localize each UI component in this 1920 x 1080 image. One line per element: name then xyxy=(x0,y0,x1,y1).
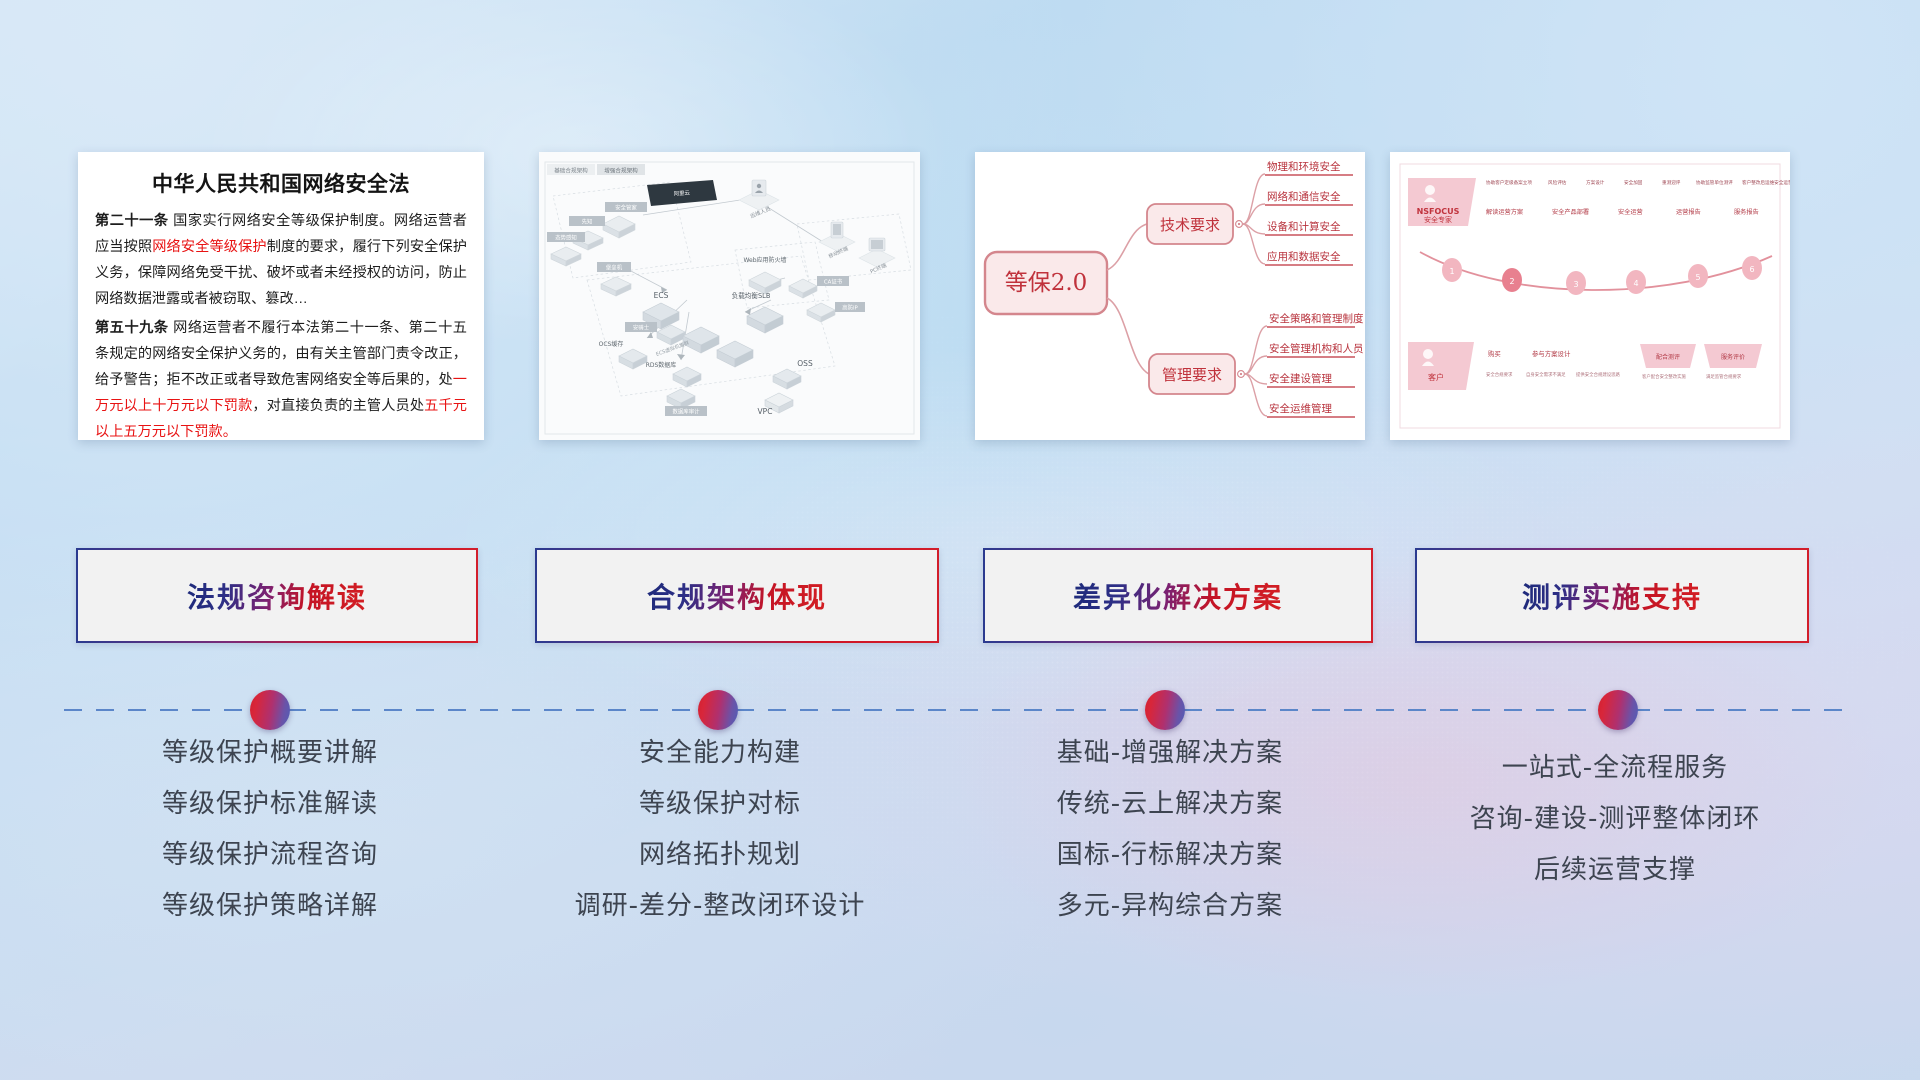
nsfocus-step-6[interactable]: 6 xyxy=(1749,265,1754,274)
nsfocus-shape-label-2: 服务评价 xyxy=(1721,353,1745,361)
arch-node-label-ca: CA证书 xyxy=(824,278,843,286)
mindmap-item-physical[interactable]: 物理和环境安全 xyxy=(1267,160,1341,173)
nsfocus-top-label-5: 重测迎评 xyxy=(1662,179,1681,186)
nsfocus-step-5[interactable]: 5 xyxy=(1695,273,1700,282)
arch-node-label-gaofangip: 高防IP xyxy=(842,304,858,312)
mindmap-branch-management[interactable]: 管理要求 xyxy=(1149,354,1244,394)
arch-node-label-anquanguanjia: 安全管家 xyxy=(615,204,637,212)
timeline-dot-2[interactable] xyxy=(698,690,738,730)
mindmap-item-construction[interactable]: 安全建设管理 xyxy=(1269,372,1332,385)
arch-node-label-rds: RDS数据库 xyxy=(646,361,677,369)
timeline xyxy=(0,690,1920,730)
nsfocus-step-4[interactable]: 4 xyxy=(1633,279,1638,288)
arch-tab-basic[interactable]: 基础合规架构 xyxy=(554,167,588,175)
list-item: 咨询-建设-测评整体闭环 xyxy=(1400,806,1830,832)
detail-column-2: 安全能力构建 等级保护对标 网络拓扑规划 调研-差分-整改闭环设计 xyxy=(500,740,940,944)
nsfocus-mid-label-5: 服务报告 xyxy=(1734,208,1759,216)
list-item: 等级保护流程咨询 xyxy=(60,842,480,868)
law-article-59: 第五十九条 网络运营者不履行本法第二十一条、第二十五条规定的网络安全保护义务的，… xyxy=(95,316,467,440)
list-item: 等级保护概要讲解 xyxy=(60,740,480,766)
law-article-59-text-b: ，对直接负责的主管人员处 xyxy=(252,398,424,414)
mindmap-item-network[interactable]: 网络和通信安全 xyxy=(1267,190,1341,203)
list-item: 等级保护策略详解 xyxy=(60,893,480,919)
card-mindmap[interactable]: 等保2.0 技术要求 xyxy=(975,152,1365,440)
timeline-dot-4[interactable] xyxy=(1598,690,1638,730)
nsfocus-sub-5: 满足监管合规要求 xyxy=(1706,373,1742,380)
list-item: 多元-异构综合方案 xyxy=(960,893,1380,919)
nsfocus-customer-label: 客户 xyxy=(1428,372,1444,382)
list-item: 等级保护对标 xyxy=(500,791,940,817)
nsfocus-mid-label-4: 运营报告 xyxy=(1676,208,1701,216)
list-item: 国标-行标解决方案 xyxy=(960,842,1380,868)
arch-node-label-taishiganzhi: 态势感知 xyxy=(555,234,577,242)
detail-column-1: 等级保护概要讲解 等级保护标准解读 等级保护流程咨询 等级保护策略详解 xyxy=(60,740,480,944)
nsfocus-top-label-7: 客户整改后运维安全运营支撑 xyxy=(1742,179,1790,186)
mindmap-item-org[interactable]: 安全管理机构和人员 xyxy=(1269,342,1364,355)
list-item: 一站式-全流程服务 xyxy=(1400,755,1830,781)
law-article-21-highlight: 网络安全等级保护 xyxy=(152,239,267,255)
mindmap-item-policy[interactable]: 安全策略和管理制度 xyxy=(1269,312,1364,325)
nsfocus-step-1[interactable]: 1 xyxy=(1449,267,1454,276)
arch-node-label-baoleiji: 堡垒机 xyxy=(606,264,623,272)
nsfocus-brand: NSFOCUS 安全专家 xyxy=(1408,178,1476,226)
label-text-3: 差异化解决方案 xyxy=(1073,576,1283,616)
nsfocus-sub-2: 自身安全需求不满足 xyxy=(1526,371,1566,378)
nsfocus-brand-line2: 安全专家 xyxy=(1424,215,1452,224)
list-item: 基础-增强解决方案 xyxy=(960,740,1380,766)
list-item: 调研-差分-整改闭环设计 xyxy=(500,893,940,919)
nsfocus-mid-label-1: 解读运营方案 xyxy=(1486,208,1524,216)
label-text-4: 测评实施支持 xyxy=(1522,576,1702,616)
mindmap-root-label: 等保2.0 xyxy=(1005,270,1088,296)
arch-node-label-xianzhi: 先知 xyxy=(582,218,593,226)
timeline-dot-1[interactable] xyxy=(250,690,290,730)
nsfocus-top-label-2: 风险评估 xyxy=(1548,179,1567,186)
mindmap-item-application[interactable]: 应用和数据安全 xyxy=(1267,250,1341,263)
arch-node-label-vpc: VPC xyxy=(758,407,773,416)
list-item: 传统-云上解决方案 xyxy=(960,791,1380,817)
mindmap-root-node[interactable]: 等保2.0 xyxy=(985,252,1107,314)
nsfocus-step-3[interactable]: 3 xyxy=(1573,280,1578,289)
nsfocus-shape-label-1: 配合测评 xyxy=(1656,353,1680,361)
nsfocus-top-labels: 协助客户定级备案立项 风险评估 方案设计 安全加固 重测迎评 协助监管单位测评 … xyxy=(1486,179,1790,186)
list-item: 网络拓扑规划 xyxy=(500,842,940,868)
nsfocus-top-label-3: 方案设计 xyxy=(1586,179,1605,186)
nsfocus-bottom-label-1: 购买 xyxy=(1488,349,1501,358)
arch-node-label-dbaudit: 数据库审计 xyxy=(673,408,701,416)
arch-node-label-ecs: ECS xyxy=(654,291,669,300)
label-box-differentiated-solution[interactable]: 差异化解决方案 xyxy=(983,548,1373,643)
mindmap-branch-technical-label: 技术要求 xyxy=(1160,216,1220,234)
nsfocus-sub-4: 客户配合安全整改实施 xyxy=(1642,373,1687,380)
mindmap-diagram: 等保2.0 技术要求 xyxy=(975,152,1365,440)
card-cloud-architecture[interactable]: 基础合规架构 增强合规架构 xyxy=(539,152,920,440)
arch-node-label-oss: OSS xyxy=(797,359,813,368)
nsfocus-sub-1: 安全合规要求 xyxy=(1486,371,1513,378)
nsfocus-bottom-label-2: 参与方案设计 xyxy=(1532,349,1571,358)
law-title: 中华人民共和国网络安全法 xyxy=(95,168,467,198)
nsfocus-brand-line1: NSFOCUS xyxy=(1417,207,1460,216)
mindmap-item-operation[interactable]: 安全运维管理 xyxy=(1269,402,1332,415)
nsfocus-top-label-1: 协助客户定级备案立项 xyxy=(1486,179,1532,186)
nsfocus-customer-brand: 客户 xyxy=(1408,342,1474,390)
preview-cards-row: 中华人民共和国网络安全法 第二十一条 国家实行网络安全等级保护制度。网络运营者应… xyxy=(0,152,1920,450)
nsfocus-sub-3: 提供安全合规建设思路 xyxy=(1576,371,1621,378)
nsfocus-step-2[interactable]: 2 xyxy=(1509,277,1514,286)
label-box-assessment-support[interactable]: 测评实施支持 xyxy=(1415,548,1809,643)
card-nsfocus-timeline[interactable]: NSFOCUS 安全专家 协助客户定级备案立项 风险评估 方案设计 安全加固 重… xyxy=(1390,152,1790,440)
law-document-body: 中华人民共和国网络安全法 第二十一条 国家实行网络安全等级保护制度。网络运营者应… xyxy=(78,152,484,440)
arch-tab-enhanced[interactable]: 增强合规架构 xyxy=(604,167,638,175)
nsfocus-top-label-4: 安全加固 xyxy=(1624,179,1643,186)
card-law-document[interactable]: 中华人民共和国网络安全法 第二十一条 国家实行网络安全等级保护制度。网络运营者应… xyxy=(78,152,484,440)
mindmap-branch-management-label: 管理要求 xyxy=(1162,366,1222,384)
label-text-1: 法规咨询解读 xyxy=(187,576,367,616)
arch-node-label-waf: Web应用防火墙 xyxy=(743,256,786,264)
mindmap-item-device[interactable]: 设备和计算安全 xyxy=(1267,220,1341,233)
list-item: 安全能力构建 xyxy=(500,740,940,766)
detail-columns: 等级保护概要讲解 等级保护标准解读 等级保护流程咨询 等级保护策略详解 安全能力… xyxy=(0,740,1920,980)
label-box-compliance-architecture[interactable]: 合规架构体现 xyxy=(535,548,939,643)
law-article-21-label: 第二十一条 xyxy=(95,213,169,229)
arch-node-label-anqishi: 安骑士 xyxy=(633,324,650,332)
label-text-2: 合规架构体现 xyxy=(647,576,827,616)
section-label-row: 法规咨询解读 合规架构体现 差异化解决方案 测评实施支持 xyxy=(0,548,1920,644)
list-item: 等级保护标准解读 xyxy=(60,791,480,817)
architecture-diagram: 基础合规架构 增强合规架构 xyxy=(539,152,920,440)
arch-node-label-ocs: OCS缓存 xyxy=(599,340,624,348)
nsfocus-mid-label-3: 安全运营 xyxy=(1618,208,1643,216)
nsfocus-infographic: NSFOCUS 安全专家 协助客户定级备案立项 风险评估 方案设计 安全加固 重… xyxy=(1390,152,1790,440)
arch-node-label-slb: 负载均衡SLB xyxy=(732,291,771,300)
detail-column-3: 基础-增强解决方案 传统-云上解决方案 国标-行标解决方案 多元-异构综合方案 xyxy=(960,740,1380,944)
mindmap-branch-technical[interactable]: 技术要求 xyxy=(1147,204,1242,244)
law-article-21: 第二十一条 国家实行网络安全等级保护制度。网络运营者应当按照网络安全等级保护制度… xyxy=(95,209,467,312)
nsfocus-mid-label-2: 安全产品部署 xyxy=(1552,208,1589,216)
timeline-dashed-line xyxy=(64,709,1856,711)
nsfocus-top-label-6: 协助监管单位测评 xyxy=(1696,179,1733,186)
detail-column-4: 一站式-全流程服务 咨询-建设-测评整体闭环 后续运营支撑 xyxy=(1400,755,1830,908)
list-item: 后续运营支撑 xyxy=(1400,857,1830,883)
label-box-regulation-consulting[interactable]: 法规咨询解读 xyxy=(76,548,478,643)
timeline-dot-3[interactable] xyxy=(1145,690,1185,730)
law-article-59-label: 第五十九条 xyxy=(95,320,169,336)
